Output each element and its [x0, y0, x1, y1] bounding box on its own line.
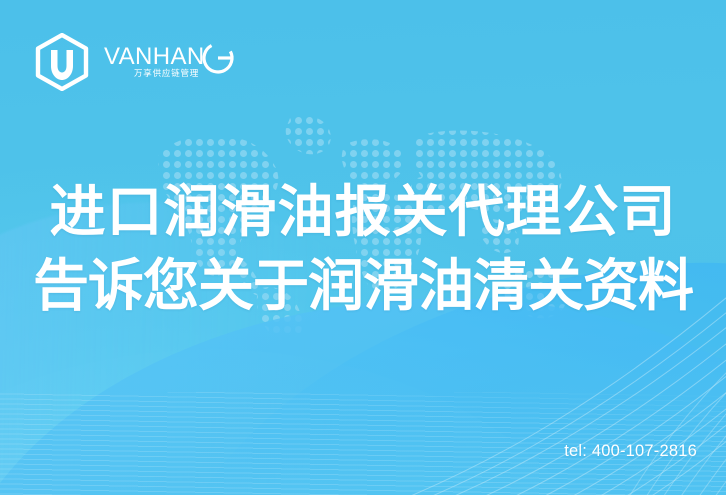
headline-line-2: 告诉您关于润滑油清关资料	[0, 249, 726, 323]
contact-phone[interactable]: tel: 400-107-2816	[564, 442, 697, 461]
brand-logo[interactable]: VANHAN 万享供应链管理	[33, 33, 234, 91]
promo-banner: VANHAN 万享供应链管理 进口润滑油报关代理公司 告诉您关于润滑油清关资料 …	[0, 0, 726, 495]
hexagon-u-logo-icon	[33, 33, 93, 91]
brand-wordmark-sub: 万享供应链管理	[134, 68, 199, 78]
headline-line-1: 进口润滑油报关代理公司	[0, 175, 726, 249]
brand-wordmark-group: VANHAN 万享供应链管理	[104, 33, 234, 91]
headline: 进口润滑油报关代理公司 告诉您关于润滑油清关资料	[0, 175, 726, 323]
brand-wordmark: VANHAN	[104, 43, 205, 70]
